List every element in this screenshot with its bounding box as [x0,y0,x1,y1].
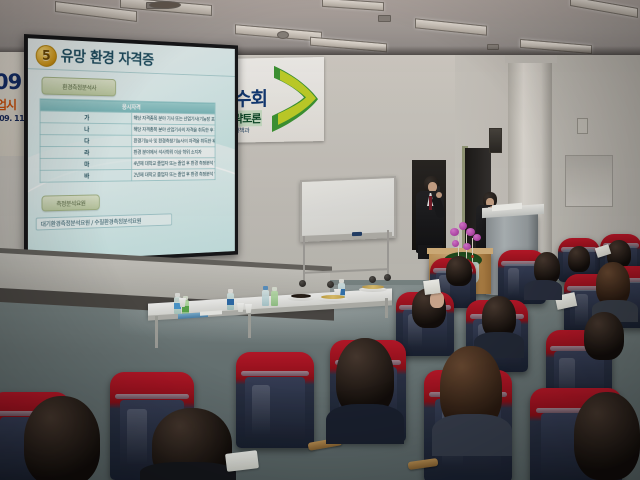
yellow-snacks [362,285,384,289]
water-bottle [262,290,269,306]
slide-pill-bottom: 측정분석요원 [42,194,100,211]
bottle-cap [263,286,268,290]
whiteboard-marker [352,232,362,236]
wall-speaker [489,128,502,153]
bottle-cap [339,279,344,283]
slide-number-badge: 5 [36,45,57,68]
ceiling-smoke-detector [149,1,181,9]
row-key: 마 [40,158,131,170]
seat-highlight [575,294,588,325]
projection-screen: 5 유망 환경 자격증 환경측정분석사 응시자격 가 해당 자격종목 분야 기사… [24,34,238,266]
whiteboard-caster [299,280,306,287]
row-text: 환경기능사 및 환경측정기능사의 자격을 취득한 후 환경측정분석 업무에서 3… [131,135,215,147]
table-row: 바 2년제 대학교 졸업자 또는 졸업 후 환경 측정분석 업무에서 2년 이상… [40,169,215,183]
row-key: 다 [40,135,131,147]
banner-chevron-logo [270,63,322,134]
audience-shoulder [524,280,562,300]
table-leg [248,310,251,338]
column-capital [505,55,557,63]
seat-rim [241,371,310,376]
bottle-label [227,299,234,305]
row-key: 나 [40,123,131,136]
seminar-room-photo: 09 업시 009. 11. 수회 전략토론 한경정책과 5 유망 환경 자격증… [0,0,640,480]
ceiling-vent [378,15,391,22]
water-bottle [227,293,234,310]
bottle-cap [228,289,233,293]
audience-hair [574,392,640,480]
seat-highlight [127,409,147,465]
orchid-bloom [473,234,481,241]
bottle-cap [272,287,277,291]
audience-hair [446,256,472,286]
audience-shoulder [326,404,404,444]
whiteboard-leg [303,236,305,282]
table-leg [385,298,388,318]
audience-hair [584,312,624,360]
whiteboard-caster [327,281,334,288]
slide-title: 유망 환경 자격증 [61,45,154,69]
audience-shoulder [432,414,512,456]
seat [236,352,314,448]
audience-hair [24,396,100,480]
wall-speaker [577,118,588,134]
audience-hand [430,292,444,308]
whiteboard-caster [384,274,391,281]
table-leg [155,316,158,348]
handout-paper [423,279,441,295]
whiteboard-caster [369,276,376,283]
orchid-bloom [463,243,471,250]
presentation-slide: 5 유망 환경 자격증 환경측정분석사 응시자격 가 해당 자격종목 분야 기사… [28,38,235,262]
poster-date: 009. 11. [0,114,27,123]
table-row: 라 환경 분야에서 석사학위 이상 학위 소지자 [40,147,215,159]
speaker-hand [436,192,442,198]
seat-highlight [252,385,271,435]
seat-rim [115,394,189,399]
ceiling-light-fixture [322,0,384,11]
yellow-snacks [321,295,345,299]
water-bottle [271,291,278,306]
table-row: 다 환경기능사 및 환경측정기능사의 자격을 취득한 후 환경측정분석 업무에서… [40,135,215,147]
poster-year: 09 [0,70,21,94]
slide-divider [28,68,235,77]
audience-shoulder [140,462,236,480]
slide-qualification-table: 응시자격 가 해당 자격종목 분야 기사 또는 산업기사(기능장 포함) 자격을… [40,98,216,182]
handout-paper [225,450,259,472]
dark-snacks [291,294,311,298]
row-text: 해당 자격종목 분야 산업기사의 자격을 취득한 후 환경측정분석 업무에서 1… [131,124,215,136]
ceiling-light-fixture [415,18,487,36]
row-key: 바 [40,169,131,182]
banner-line1: 수회 [234,84,267,112]
ceiling-light-fixture [570,0,638,18]
poster-orange-text: 업시 [0,96,16,113]
slide-pill-top: 환경측정분석사 [42,77,117,97]
row-text: 2년제 대학교 졸업자 또는 졸업 후 환경 측정분석 업무에서 2년 이상 실… [131,169,215,181]
bottle-cap [175,293,180,297]
seat-highlight [508,268,520,296]
orchid-bloom [450,228,459,236]
row-text: 환경 분야에서 석사학위 이상 학위 소지자 [131,147,215,158]
wall-panel [565,155,613,207]
screen-frame: 5 유망 환경 자격증 환경측정분석사 응시자격 가 해당 자격종목 분야 기사… [24,34,238,266]
row-text: 4년제 대학교 졸업자 또는 졸업 후 환경 측정분석 업무에서 1년 이상 실… [131,158,215,170]
audience-hair [568,246,590,272]
slide-table-body: 가 해당 자격종목 분야 기사 또는 산업기사(기능장 포함) 자격을 취득한 … [40,111,215,182]
row-key: 라 [40,147,131,159]
ceiling-speaker [277,31,289,39]
orchid-bloom [452,240,459,247]
